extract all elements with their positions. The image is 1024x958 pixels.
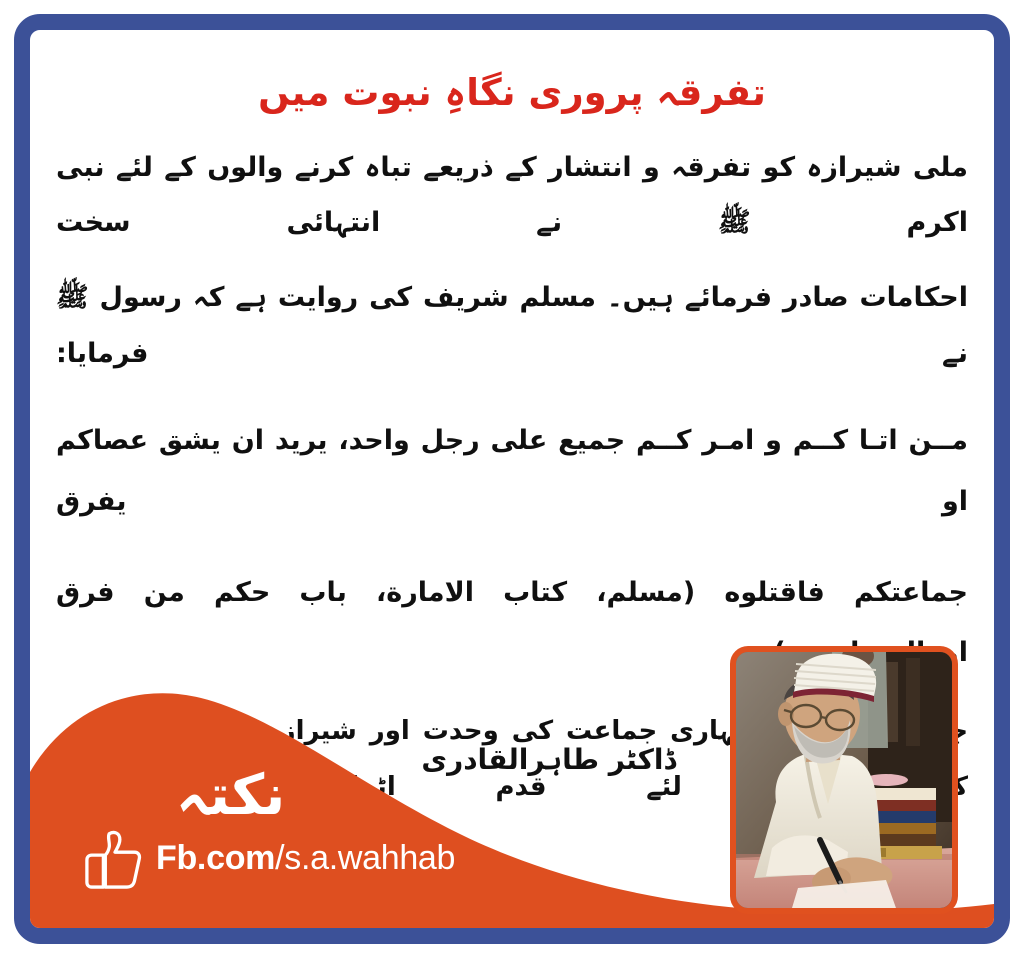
poster-root: تفرقہ پروری نگاہِ نبوت میں ملی شیرازہ کو… bbox=[0, 0, 1024, 958]
thumbs-up-icon bbox=[84, 826, 146, 890]
intro-paragraph-line-2: احکامات صادر فرمائے ہیں۔ مسلم شریف کی رو… bbox=[56, 270, 968, 381]
facebook-url[interactable]: Fb.com/s.a.wahhab bbox=[156, 839, 455, 878]
facebook-url-domain: Fb.com bbox=[156, 839, 275, 877]
author-photo bbox=[730, 646, 958, 914]
author-photo-image bbox=[736, 652, 952, 908]
logo-wordmark: نکتہ bbox=[176, 768, 504, 824]
poster-blue-frame: تفرقہ پروری نگاہِ نبوت میں ملی شیرازہ کو… bbox=[14, 14, 1010, 944]
source-citation-row: فرقہ واریت کا خاتمہ کیونکر ممکن صفحہ 23 bbox=[56, 920, 968, 944]
branding-logo[interactable]: نکتہ Fb.com/s.a.wahhab bbox=[84, 768, 504, 890]
hadith-arabic-line-1: مــن اتـا کــم و امـر کــم جميع على رجل … bbox=[56, 411, 968, 533]
intro-paragraph-line-1: ملی شیرازہ کو تفرقہ و انتشار کے ذریعے تب… bbox=[56, 140, 968, 251]
source-citation: فرقہ واریت کا خاتمہ کیونکر ممکن صفحہ 23 bbox=[56, 920, 715, 944]
facebook-url-path: /s.a.wahhab bbox=[275, 839, 455, 877]
page-title: تفرقہ پروری نگاہِ نبوت میں bbox=[56, 66, 968, 120]
facebook-link-row[interactable]: Fb.com/s.a.wahhab bbox=[84, 826, 504, 890]
